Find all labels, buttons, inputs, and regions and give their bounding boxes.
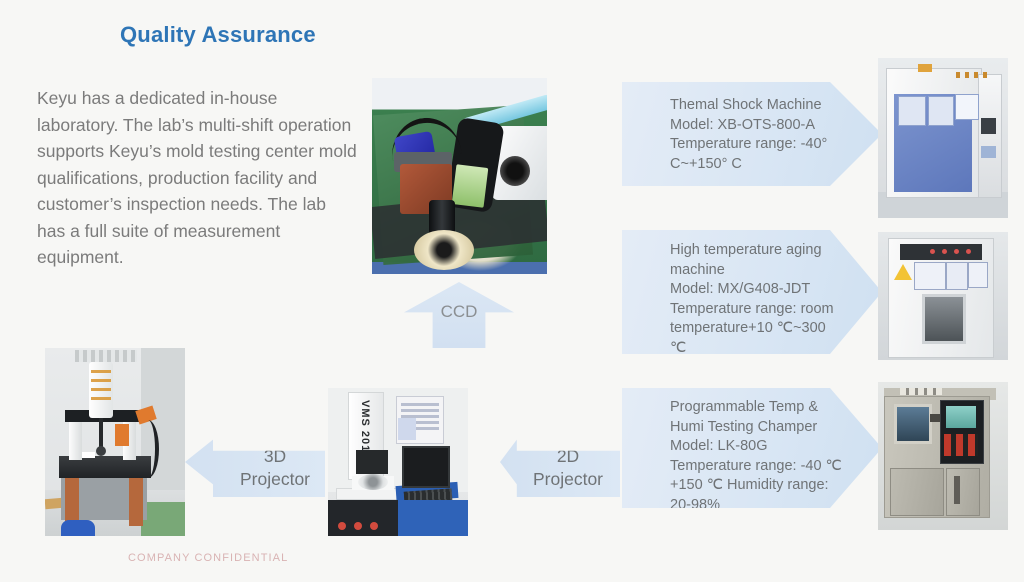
door-label-2 [946,262,968,290]
lower-door-right [946,468,980,516]
probe-shaft [99,418,103,448]
arrow-label-2d-line1: 2D [557,445,579,468]
indicator-led [954,249,959,254]
viewing-window [922,294,966,344]
callout-thermal-shock: Themal Shock Machine Model: XB-OTS-800-A… [622,82,882,186]
2d-projector-vms-photo: VMS 2010 [328,388,468,536]
control-screen [981,118,996,134]
viewing-window [894,404,932,444]
callout-chamber-text: Programmable Temp & Humi Testing Champer… [670,398,842,515]
control-screen-lower [981,146,996,158]
orange-fixture-2 [115,424,129,446]
cable [137,420,159,478]
callout-aging-text: High temperature aging machine Model: MX… [670,241,842,358]
projector-head [356,450,388,474]
arrow-label-3d-projector: 3D Projector [225,433,325,503]
indicator-leds [900,388,942,395]
3d-projector-cmm-photo [45,348,185,536]
lower-door-left [890,468,944,516]
arrow-label-2d-projector: 2D Projector [516,433,620,503]
footer-confidential: COMPANY CONFIDENTIAL [128,552,288,564]
arrow-left-2d-projector: 2D Projector [500,427,620,497]
door-label-2 [928,96,954,126]
ccd-microscope-photo [372,78,547,274]
thermal-shock-machine-photo [878,58,1008,218]
door-handle [954,476,960,504]
arrow-label-3d-line1: 3D [264,445,286,468]
indicator-led [966,249,971,254]
door-label-1 [898,96,926,126]
arrow-label-2d-line2: Projector [533,468,603,491]
light-ring [414,230,474,270]
top-knobs [956,72,990,78]
slide-canvas: Quality Assurance Keyu has a dedicated i… [0,0,1024,582]
arrow-label-3d-line2: Projector [240,468,310,491]
computer-tower [328,500,398,536]
arrow-left-3d-projector: 3D Projector [185,427,325,497]
indicator-led [942,249,947,254]
high-temperature-aging-machine-photo [878,232,1008,360]
page-title: Quality Assurance [120,22,316,48]
door-label-3 [955,94,979,120]
indicator-led [930,249,935,254]
door-label-1 [914,262,946,290]
wall-poster-blue [398,418,416,440]
control-side-panel [978,74,1002,198]
monitor [402,446,450,488]
arrow-label-ccd: CCD [404,302,514,322]
warning-triangle-icon [894,264,912,280]
blue-floor [398,500,468,536]
temp-humidity-chamber-photo [878,382,1008,530]
probe-tip [96,446,106,456]
base-leg-right [129,478,143,526]
control-buttons [944,434,978,456]
lens [500,156,530,186]
green-floor [141,502,185,536]
blue-stool [61,520,95,536]
base-leg-left [65,478,79,526]
ceiling-vent [75,350,137,362]
callout-aging-machine: High temperature aging machine Model: MX… [622,230,882,354]
tower-branding [91,370,111,404]
green-label [452,164,489,208]
callout-thermal-text: Themal Shock Machine Model: XB-OTS-800-A… [670,96,842,174]
control-strip [900,244,982,260]
callout-temp-humidity-chamber: Programmable Temp & Humi Testing Champer… [622,388,882,508]
door-label-3 [968,262,988,288]
intro-paragraph: Keyu has a dedicated in-house laboratory… [37,85,357,271]
control-screen [946,406,976,428]
amber-indicator [918,64,932,72]
stage-glass [358,474,388,490]
